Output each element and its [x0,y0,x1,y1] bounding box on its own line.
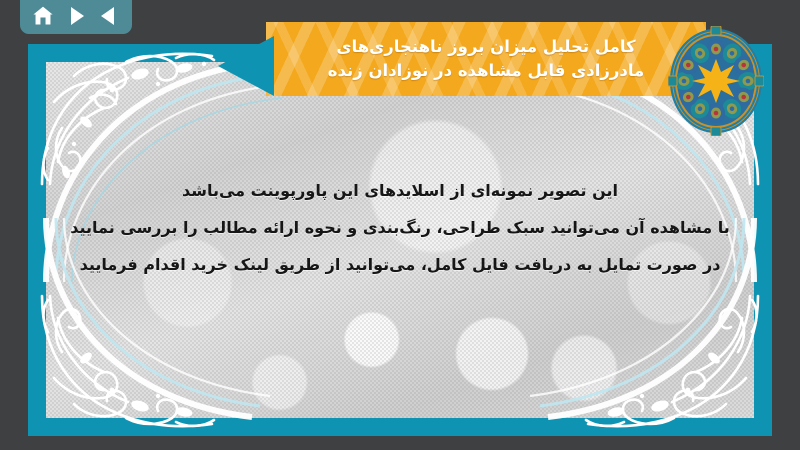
body-line-1: این تصویر نمونه‌ای از اسلایدهای این پاور… [68,172,732,209]
previous-slide-button[interactable] [96,3,122,29]
triangle-right-icon [64,4,88,28]
home-button[interactable] [30,3,56,29]
slide-navigation-toolbar[interactable] [20,0,132,34]
body-line-3: در صورت تمایل به دریافت فایل کامل، می‌تو… [68,246,732,283]
ornamental-medallion [668,26,764,136]
ribbon-arrow-left [218,36,274,96]
slide-title: کامل تحلیل میزان بروز ناهنجاری‌های مادرز… [266,22,706,96]
title-banner: کامل تحلیل میزان بروز ناهنجاری‌های مادرز… [266,22,706,96]
next-slide-button[interactable] [63,3,89,29]
slide-canvas: این تصویر نمونه‌ای از اسلایدهای این پاور… [28,44,772,436]
body-line-2: با مشاهده آن می‌توانید سبک طراحی، رنگ‌بن… [68,209,732,246]
title-line-2: مادرزادی قابل مشاهده در نوزادان زنده [328,59,645,83]
presentation-viewer: این تصویر نمونه‌ای از اسلایدهای این پاور… [0,0,800,450]
triangle-left-icon [97,4,121,28]
title-line-1: کامل تحلیل میزان بروز ناهنجاری‌های [336,35,635,59]
home-icon [31,4,55,28]
slide-body-text: این تصویر نمونه‌ای از اسلایدهای این پاور… [68,172,732,283]
slide-title-ribbon: کامل تحلیل میزان بروز ناهنجاری‌های مادرز… [218,22,760,96]
